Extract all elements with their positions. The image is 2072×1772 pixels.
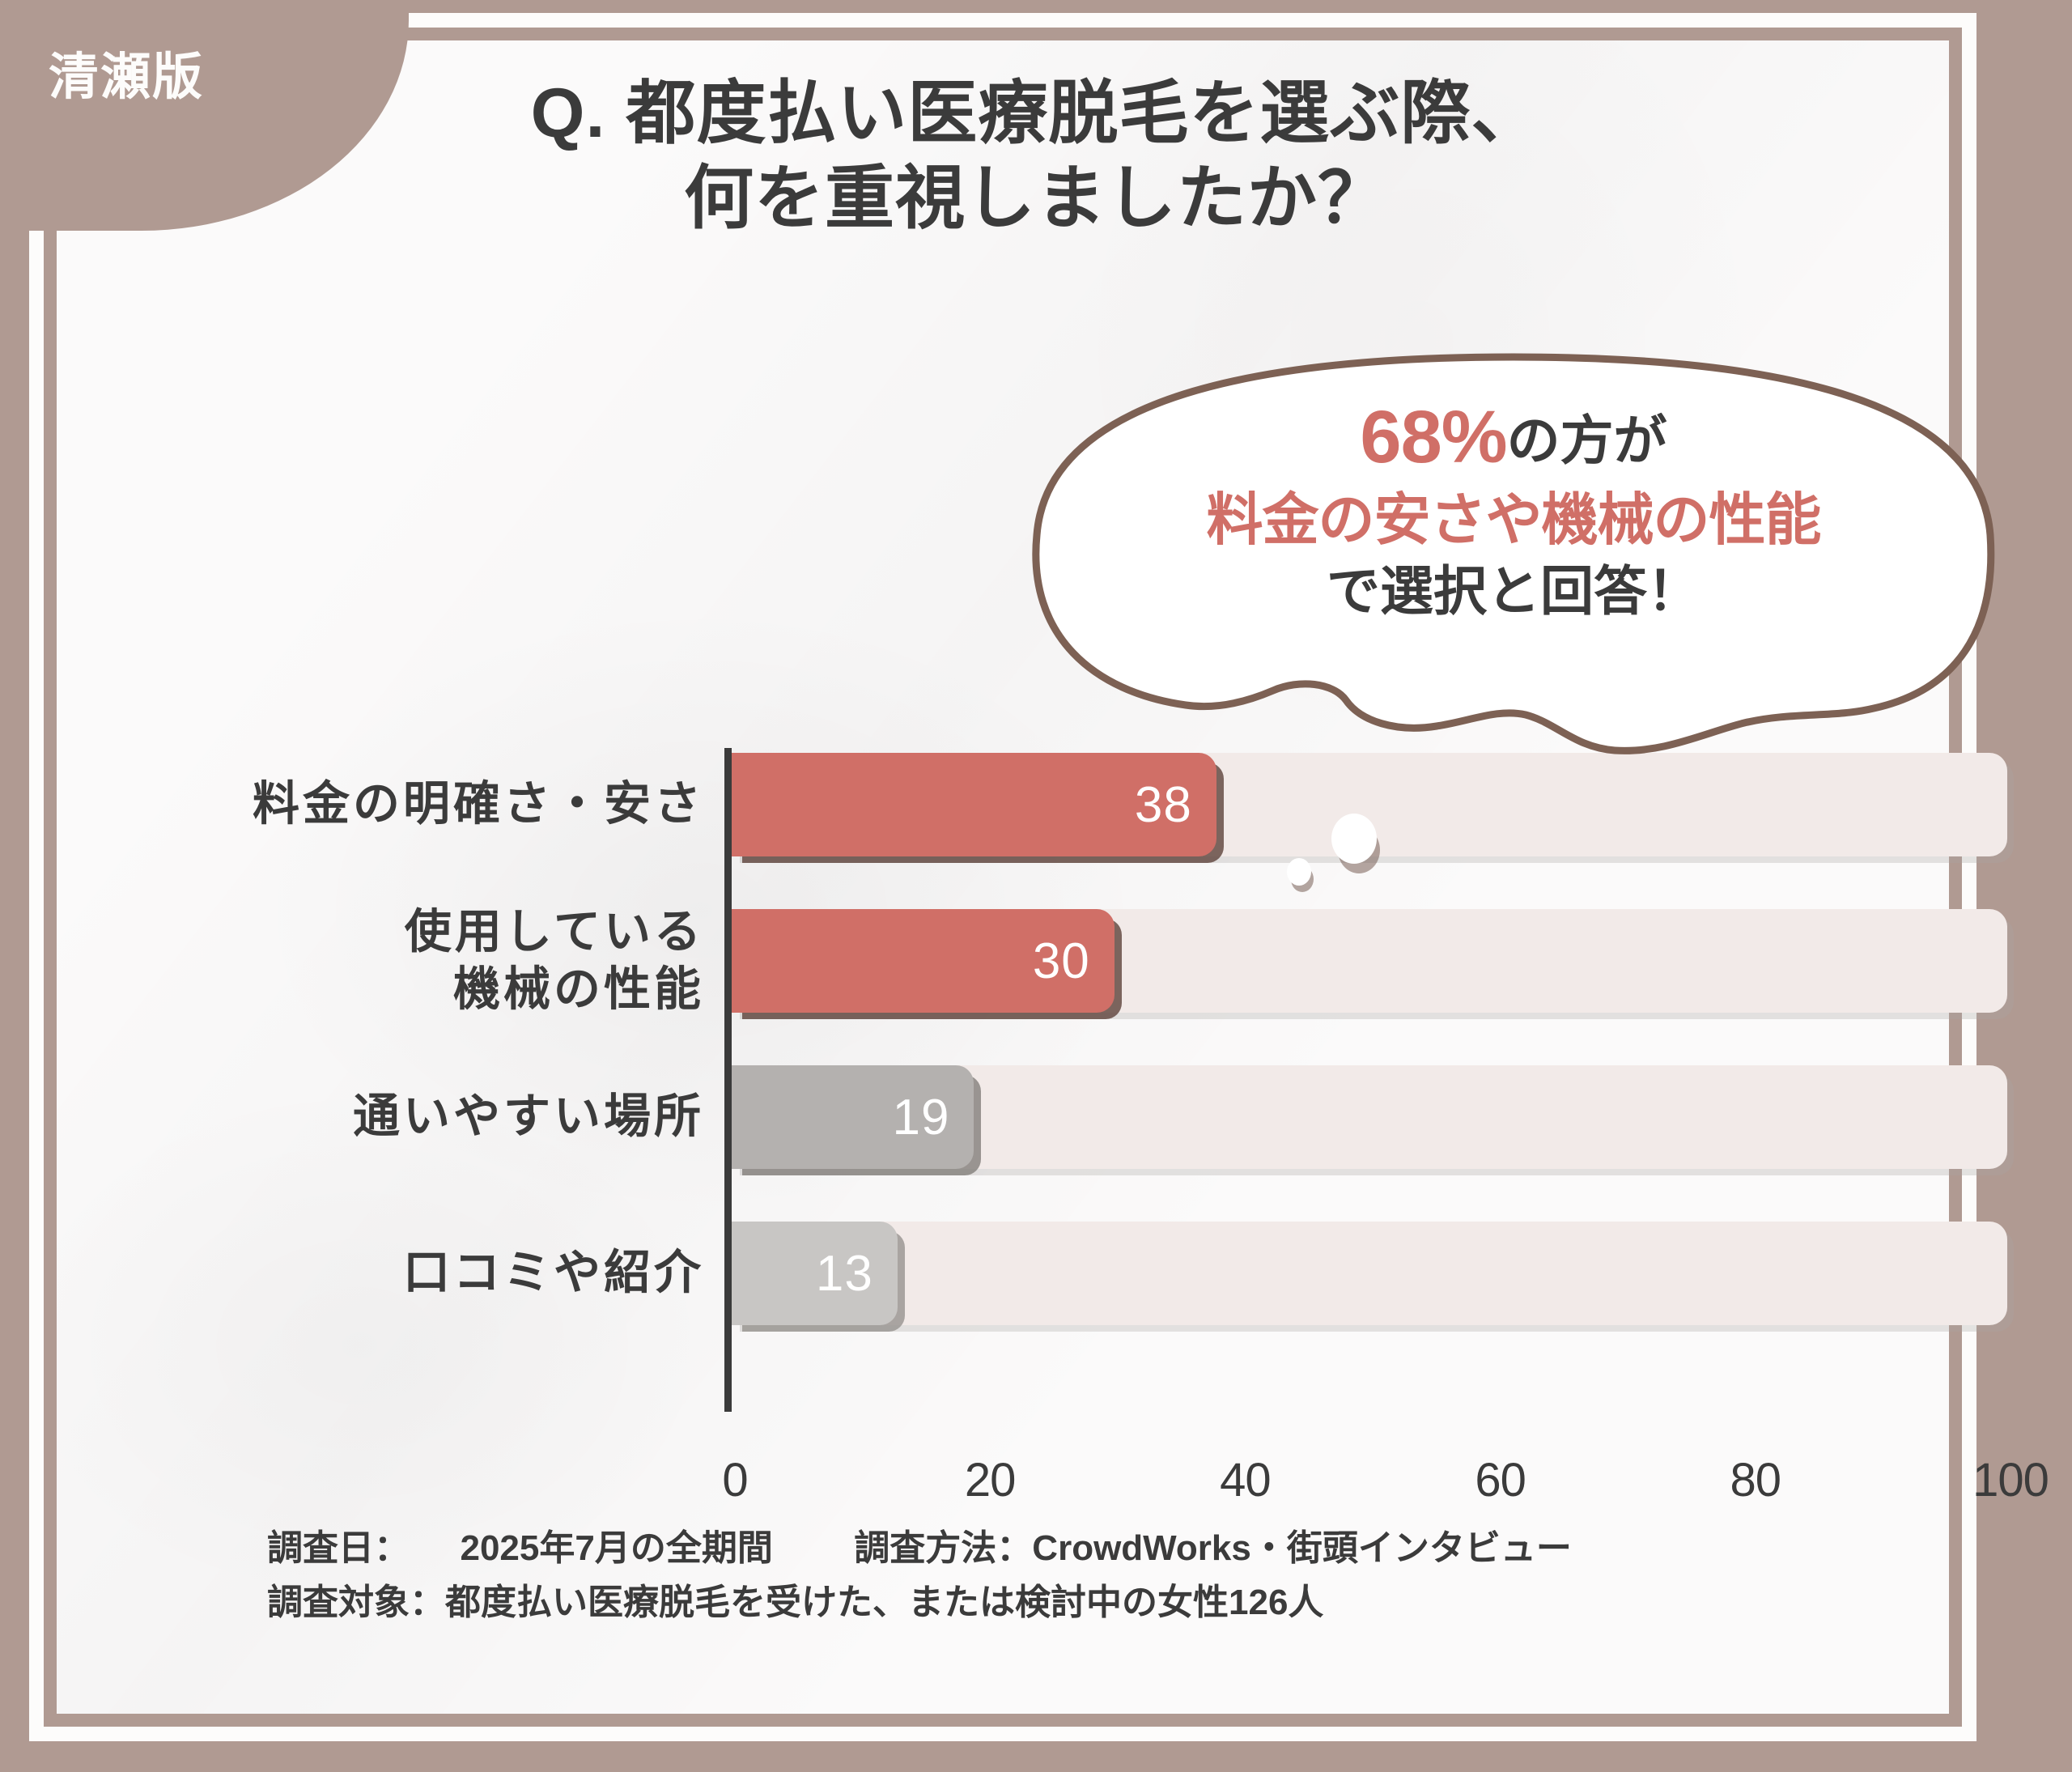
bar: 19: [732, 1065, 974, 1169]
callout-line-2: 料金の安さや機械の性能: [1016, 483, 2011, 557]
bar-chart-row: 使用している機械の性能30: [57, 909, 1999, 1013]
bar-value-label: 38: [1135, 776, 1216, 834]
page-title: Q. 都度払い医療脱毛を選ぶ際、 何を重視しましたか？: [348, 71, 1724, 241]
speech-bubble-dot-large: [1331, 814, 1377, 864]
survey-footnote-line-1: 調査日： 2025年7月の全期間 調査方法：CrowdWorks・街頭インタビュ…: [267, 1522, 1572, 1576]
bar-category-label: 通いやすい場所: [57, 1089, 704, 1146]
survey-footnote-line-2: 調査対象：都度払い医療脱毛を受けた、または検討中の女性126人: [267, 1576, 1572, 1630]
speech-bubble-dot-small: [1287, 858, 1311, 886]
page-title-line-1: Q. 都度払い医療脱毛を選ぶ際、: [348, 71, 1724, 156]
bar-category-label: 使用している機械の性能: [57, 903, 704, 1018]
callout-line-3: で選択と回答！: [1016, 557, 2011, 625]
survey-date-label: 調査日：: [267, 1528, 410, 1568]
callout-text: 68%の方が 料金の安さや機械の性能 で選択と回答！: [1016, 352, 2011, 626]
bar: 13: [732, 1222, 898, 1325]
survey-method-label: 調査方法：: [854, 1528, 1032, 1568]
chart-y-axis-line: [724, 748, 732, 1412]
bar-value-label: 13: [816, 1245, 898, 1302]
x-axis-tick-label: 60: [1475, 1453, 1526, 1507]
bar-chart-row: 通いやすい場所19: [57, 1065, 1999, 1169]
x-axis-tick-label: 100: [1972, 1453, 2049, 1507]
x-axis-tick-label: 0: [722, 1453, 747, 1507]
callout-percent: 68%: [1360, 396, 1506, 478]
bar-track: [732, 1222, 2007, 1325]
bar-category-label: 料金の明確さ・安さ: [57, 776, 704, 834]
survey-footnote: 調査日： 2025年7月の全期間 調査方法：CrowdWorks・街頭インタビュ…: [267, 1522, 1572, 1630]
x-axis-tick-label: 20: [965, 1453, 1016, 1507]
bar-chart: 料金の明確さ・安さ38使用している機械の性能30通いやすい場所19口コミや紹介1…: [57, 753, 1999, 1465]
chart-rows: 料金の明確さ・安さ38使用している機械の性能30通いやすい場所19口コミや紹介1…: [57, 753, 1999, 1325]
bar-category-label: 口コミや紹介: [57, 1245, 704, 1302]
bar: 30: [732, 909, 1115, 1013]
bar-chart-row: 口コミや紹介13: [57, 1222, 1999, 1325]
x-axis-tick-label: 80: [1730, 1453, 1781, 1507]
infographic-page: 清瀬版 Q. 都度払い医療脱毛を選ぶ際、 何を重視しましたか？ 68%の方が 料…: [0, 0, 2072, 1772]
callout-speech-bubble: 68%の方が 料金の安さや機械の性能 で選択と回答！: [1016, 352, 2011, 781]
survey-method-value: CrowdWorks・街頭インタビュー: [1032, 1528, 1572, 1568]
survey-date-value: 2025年7月の全期間: [460, 1528, 772, 1568]
badge-label: 清瀬版: [49, 36, 204, 108]
callout-line-1: 68%の方が: [1016, 391, 2011, 483]
callout-percent-suffix: の方が: [1507, 410, 1667, 470]
chart-x-axis: 020406080100: [57, 1453, 1999, 1518]
bar-value-label: 30: [1033, 933, 1115, 990]
x-axis-tick-label: 40: [1220, 1453, 1271, 1507]
bar-value-label: 19: [892, 1089, 974, 1146]
page-title-line-2: 何を重視しましたか？: [348, 156, 1724, 241]
